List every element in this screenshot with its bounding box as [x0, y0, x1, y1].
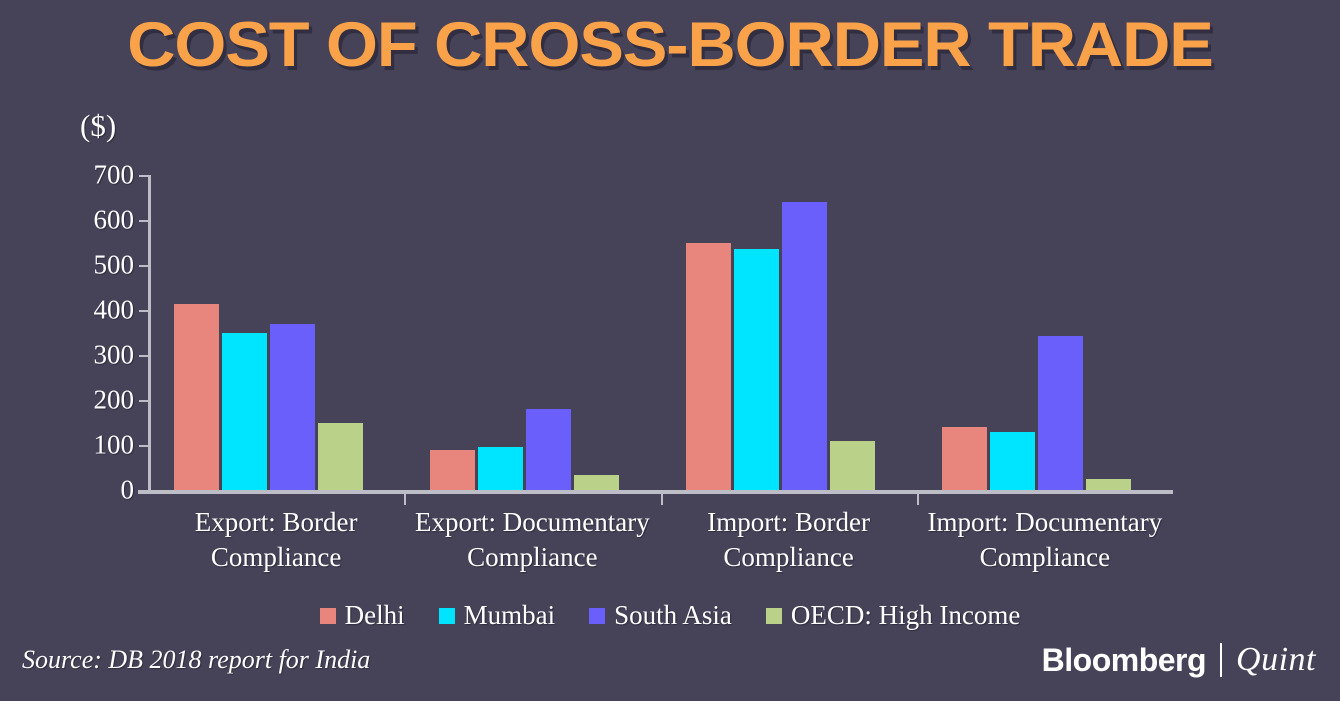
y-axis-tick-label: 200 — [64, 385, 134, 416]
x-axis-separator — [661, 494, 663, 505]
x-axis-category-label-line: Export: Border — [195, 507, 358, 537]
brand-divider — [1220, 643, 1222, 677]
x-axis-category-label-line: Compliance — [723, 542, 853, 572]
source-note: Source: DB 2018 report for India — [22, 645, 370, 675]
bar-mumbai — [734, 249, 779, 490]
x-axis-category-label-line: Import: Documentary — [928, 507, 1163, 537]
bar-mumbai — [222, 333, 267, 490]
legend-swatch-icon — [766, 608, 782, 624]
y-axis-tick-label: 500 — [64, 250, 134, 281]
x-axis-category-labels: Export: BorderComplianceExport: Document… — [148, 505, 1173, 574]
bar-oecd-high-income — [574, 475, 619, 490]
y-axis-tick-label: 700 — [64, 160, 134, 191]
x-axis-separator — [917, 494, 919, 505]
x-axis-category-label-1: Export: BorderCompliance — [148, 505, 404, 574]
x-axis-category-label-line: Import: Border — [707, 507, 870, 537]
bar-delhi — [942, 427, 987, 490]
brand-bloomberg-text: Bloomberg — [1042, 642, 1206, 679]
y-axis-tick — [139, 445, 149, 447]
y-axis-line — [148, 175, 151, 490]
x-axis-category-label-2: Export: DocumentaryCompliance — [404, 505, 660, 574]
x-axis-category-label-line: Compliance — [467, 542, 597, 572]
brand-logo: Bloomberg Quint — [1042, 641, 1316, 679]
y-axis-tick-label: 100 — [64, 430, 134, 461]
bar-delhi — [174, 304, 219, 490]
y-axis-tick — [139, 175, 149, 177]
legend-swatch-icon — [320, 608, 336, 624]
x-axis-category-label-3: Import: BorderCompliance — [661, 505, 917, 574]
bar-south-asia — [1038, 336, 1083, 490]
bar-south-asia — [782, 202, 827, 490]
y-axis-tick — [139, 355, 149, 357]
page-title: COST OF CROSS-BORDER TRADE — [0, 14, 1340, 77]
y-axis-tick-label: 400 — [64, 295, 134, 326]
y-axis-tick-label: 600 — [64, 205, 134, 236]
x-axis-category-label-4: Import: DocumentaryCompliance — [917, 505, 1173, 574]
x-axis-separator — [404, 494, 406, 505]
bar-mumbai — [478, 447, 523, 490]
x-axis-line — [138, 490, 1173, 494]
bar-oecd-high-income — [1086, 479, 1131, 490]
legend-swatch-icon — [589, 608, 605, 624]
y-axis-tick-label: 300 — [64, 340, 134, 371]
bar-oecd-high-income — [830, 441, 875, 491]
y-axis-tick-label: 0 — [64, 475, 134, 506]
bar-south-asia — [270, 324, 315, 491]
y-axis-tick — [139, 220, 149, 222]
y-axis-unit-label: ($) — [80, 108, 116, 144]
legend-item-mumbai[interactable]: Mumbai — [439, 600, 556, 631]
bar-delhi — [686, 243, 731, 490]
legend-swatch-icon — [439, 608, 455, 624]
chart-legend: DelhiMumbaiSouth AsiaOECD: High Income — [0, 600, 1340, 631]
y-axis-tick — [139, 310, 149, 312]
legend-item-south-asia[interactable]: South Asia — [589, 600, 732, 631]
legend-label: OECD: High Income — [791, 600, 1020, 631]
x-axis-category-label-line: Compliance — [980, 542, 1110, 572]
legend-item-delhi[interactable]: Delhi — [320, 600, 405, 631]
bar-oecd-high-income — [318, 423, 363, 491]
legend-label: Mumbai — [464, 600, 556, 631]
legend-label: Delhi — [345, 600, 405, 631]
legend-label: South Asia — [614, 600, 732, 631]
x-axis-category-label-line: Compliance — [211, 542, 341, 572]
bar-delhi — [430, 450, 475, 491]
x-axis-category-label-line: Export: Documentary — [415, 507, 650, 537]
y-axis-tick — [139, 400, 149, 402]
brand-quint-text: Quint — [1236, 641, 1316, 679]
bar-mumbai — [990, 432, 1035, 490]
legend-item-oecd-high-income[interactable]: OECD: High Income — [766, 600, 1020, 631]
plot-area — [148, 175, 1173, 490]
title-bar: COST OF CROSS-BORDER TRADE — [0, 14, 1340, 77]
bar-south-asia — [526, 409, 571, 490]
y-axis-tick — [139, 265, 149, 267]
